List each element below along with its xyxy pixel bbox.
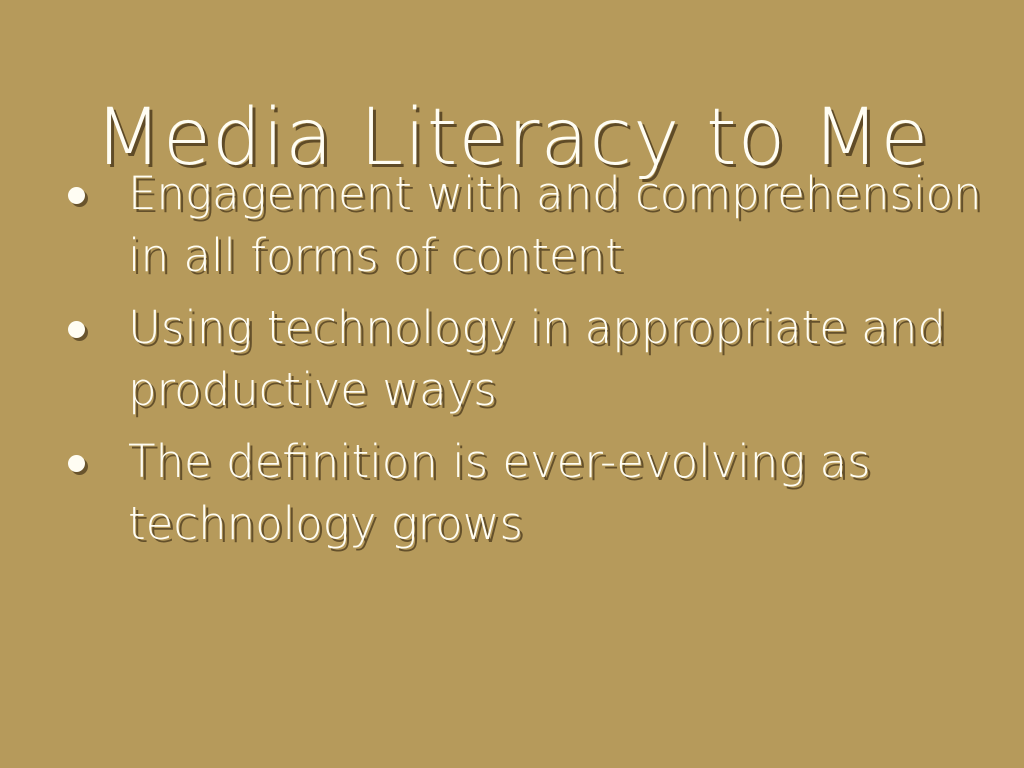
presentation-slide: Media Literacy to Me Engagement with and…	[0, 0, 1024, 768]
bullet-dot-icon	[68, 321, 85, 338]
list-item: Using technology in appropriate and prod…	[52, 297, 982, 421]
list-item: The definition is ever-evolving as techn…	[52, 431, 982, 555]
list-item-label: The definition is ever-evolving as techn…	[128, 431, 982, 555]
list-item-label: Using technology in appropriate and prod…	[128, 297, 982, 421]
bullet-dot-icon	[68, 187, 85, 204]
bullet-dot-icon	[68, 455, 85, 472]
list-item: Engagement with and comprehension in all…	[52, 163, 982, 287]
bullet-list: Engagement with and comprehension in all…	[52, 163, 982, 555]
list-item-label: Engagement with and comprehension in all…	[128, 163, 982, 287]
